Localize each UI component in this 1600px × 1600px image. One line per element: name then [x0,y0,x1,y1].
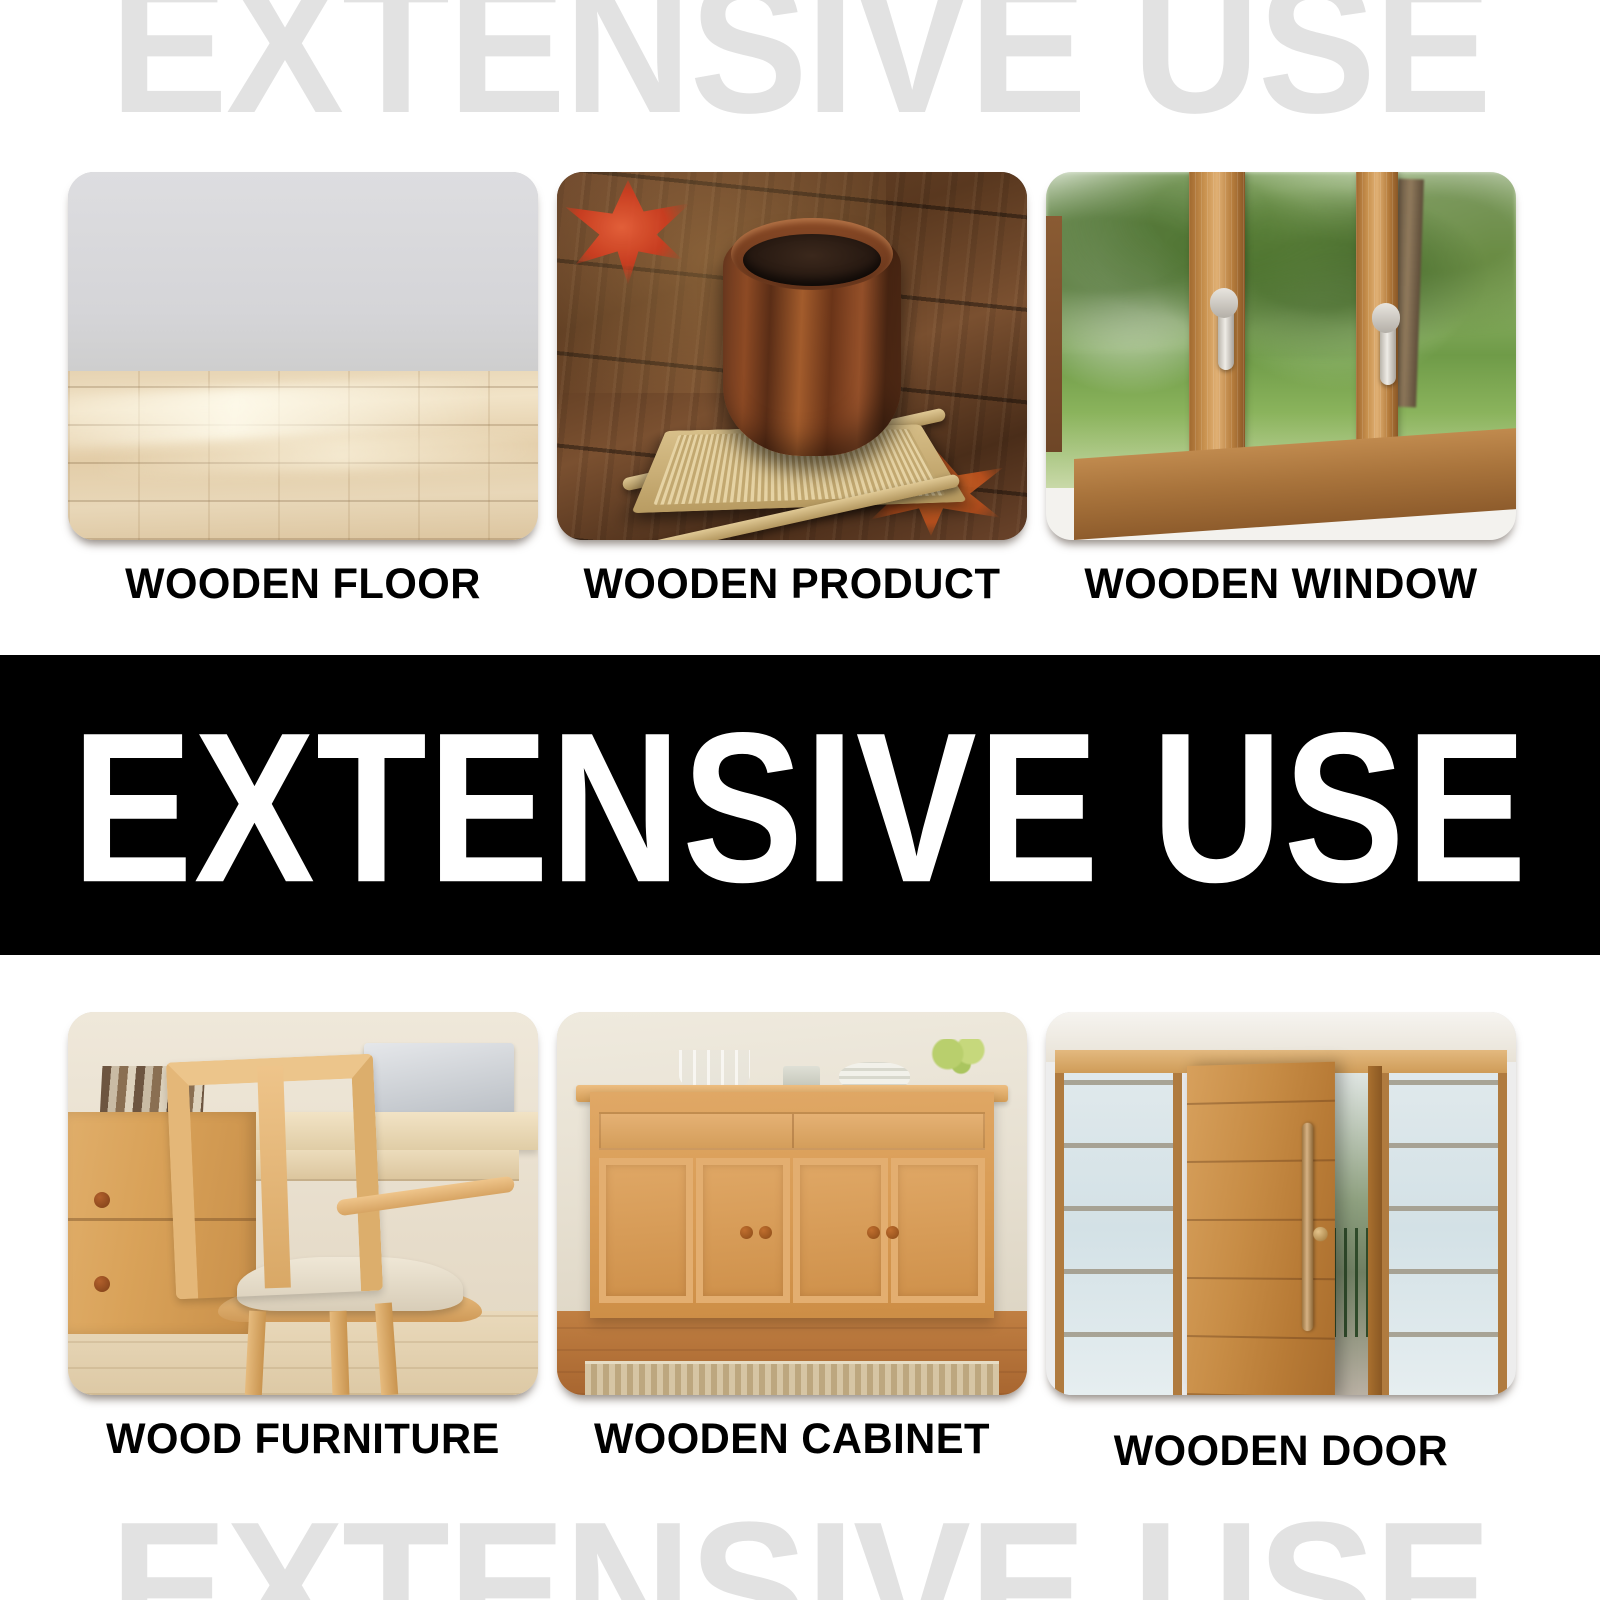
door-panel [1187,1061,1335,1395]
wooden-cabinet-artwork [557,1012,1027,1395]
window-handle-left [1218,304,1234,370]
cabinet-door [599,1158,693,1304]
tile-wooden-product[interactable]: WOODEN PRODUCT [557,172,1027,609]
cup-liquid [743,234,881,286]
floor-rug [585,1361,999,1395]
tile-row-bottom: WOOD FURNITURE [0,1012,1600,1476]
tree-foliage [1046,172,1516,415]
cabinet-knob-upper [94,1192,110,1208]
wooden-product-photo[interactable] [557,172,1027,540]
tile-wooden-window[interactable]: WOODEN WINDOW [1046,172,1516,609]
wood-furniture-photo[interactable] [68,1012,538,1395]
door-handle [1301,1123,1312,1332]
wooden-product-artwork [557,172,1027,540]
wooden-cup [723,224,901,456]
metal-gate [1333,1228,1371,1337]
caption-wooden-floor: WOODEN FLOOR [75,560,531,609]
sideboard-doors [599,1158,984,1304]
wooden-door-artwork [1046,1012,1516,1395]
wood-furniture-artwork [68,1012,538,1395]
tile-wooden-floor[interactable]: WOODEN FLOOR [68,172,538,609]
door-lock-icon [1313,1227,1327,1241]
sideboard-drawers [599,1112,984,1150]
window-handle-right [1380,319,1396,385]
wooden-door-photo[interactable] [1046,1012,1516,1395]
wooden-window-photo[interactable] [1046,172,1516,540]
wooden-cabinet-photo[interactable] [557,1012,1027,1395]
watermark-top: EXTENSIVE USE [56,0,1544,142]
wooden-floor-artwork [68,172,538,540]
door-frame [1368,1066,1382,1395]
tile-wood-furniture[interactable]: WOOD FURNITURE [68,1012,538,1476]
left-wood-edge [1046,216,1062,452]
caption-wooden-cabinet: WOODEN CABINET [564,1415,1020,1464]
caption-wood-furniture: WOOD FURNITURE [75,1415,531,1464]
outdoor-gap [1333,1073,1371,1395]
extensive-use-infographic: EXTENSIVE USE WOODEN FLOOR [0,0,1600,1600]
tile-wooden-cabinet[interactable]: WOODEN CABINET [557,1012,1027,1476]
caption-wooden-window: WOODEN WINDOW [1053,560,1509,609]
wooden-window-artwork [1046,172,1516,540]
sidelight-right [1380,1073,1507,1395]
sidelight-bars-left [1064,1073,1173,1395]
tile-wooden-door[interactable]: WOODEN DOOR [1046,1012,1516,1476]
laptop [364,1043,514,1120]
cabinet-door [891,1158,985,1304]
watermark-bottom: EXTENSIVE USE [56,1494,1544,1600]
tile-row-top: WOODEN FLOOR [0,172,1600,609]
cabinet-knob-lower [94,1276,110,1292]
extensive-use-banner: EXTENSIVE USE [0,655,1600,955]
chair-leg-front-right [330,1310,350,1395]
caption-wooden-door: WOODEN DOOR [1053,1427,1509,1476]
flower-vase [928,1039,994,1085]
sidelight-left [1055,1073,1182,1395]
banner-headline: EXTENSIVE USE [72,701,1528,915]
caption-wooden-product: WOODEN PRODUCT [564,560,1020,609]
sidelight-bars-right [1389,1073,1498,1395]
wooden-floor-photo[interactable] [68,172,538,540]
wall-surface [68,172,538,371]
